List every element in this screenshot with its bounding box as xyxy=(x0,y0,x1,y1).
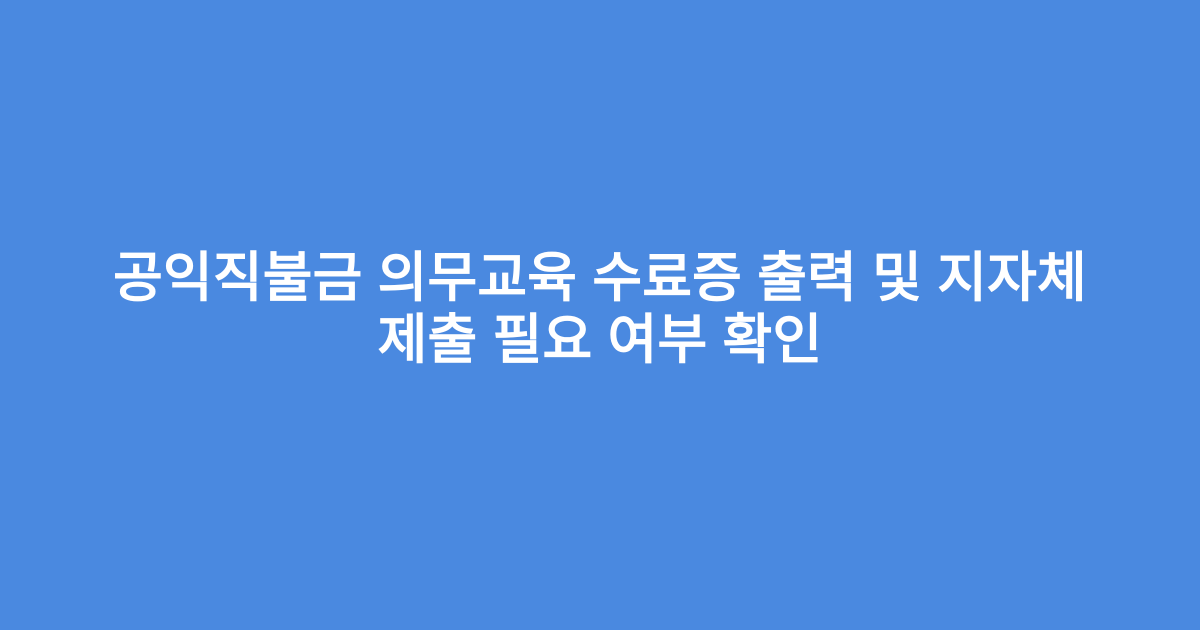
banner-title: 공익직불금 의무교육 수료증 출력 및 지자체 제출 필요 여부 확인 xyxy=(70,247,1130,371)
title-block: 공익직불금 의무교육 수료증 출력 및 지자체 제출 필요 여부 확인 xyxy=(0,247,1200,371)
banner-canvas: 공익직불금 의무교육 수료증 출력 및 지자체 제출 필요 여부 확인 xyxy=(0,0,1200,630)
